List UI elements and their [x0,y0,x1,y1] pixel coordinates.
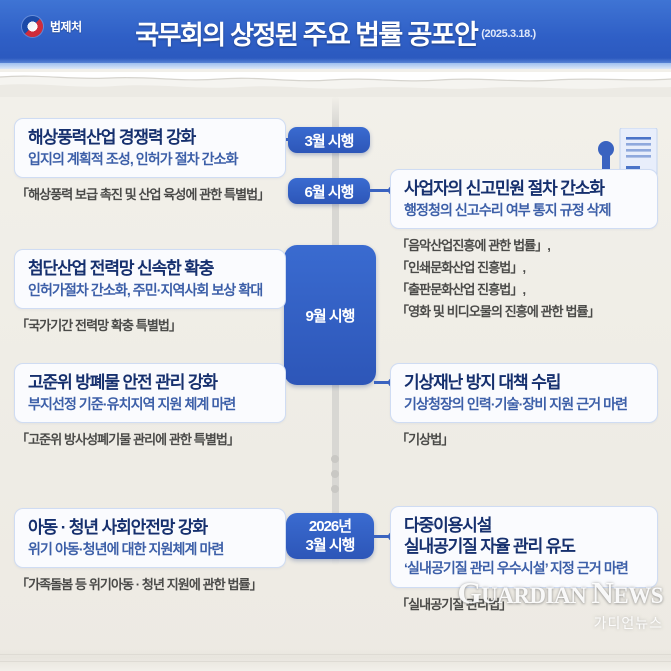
card-right-report-procedure[interactable]: 사업자의 신고민원 절차 간소화 행정청의 신고수리 여부 통지 규정 삭제 [390,169,658,229]
footer-rule [0,649,671,671]
torn-paper-edge [0,63,671,97]
card-title: 고준위 방폐물 안전 관리 강화 [28,372,273,393]
card-left-offshore-wind[interactable]: 해상풍력산업 경쟁력 강화 입지의 계획적 조성, 인허가 절차 간소화 [14,118,286,178]
card-subtitle: 위기 아동·청년에 대한 지원체계 마련 [28,540,273,559]
separator-dot [331,455,339,463]
card-law-report-procedure-3: 「출판문화산업 진흥법」, [396,281,525,298]
card-subtitle: ‘실내공기질 관리 우수시설’ 지정 근거 마련 [404,559,645,578]
page-title-date: (2025.3.18.) [481,28,536,40]
card-law-offshore-wind: 「해상풍력 보급 촉진 및 산업 육성에 관한 특별법」 [16,186,269,203]
card-right-weather-disaster[interactable]: 기상재난 방지 대책 수립 기상청장의 인력·기술·장비 지원 근거 마련 [390,363,658,423]
page-header: 법제처 국무회의 상정된 주요 법률 공포안(2025.3.18.) [0,0,671,68]
card-subtitle: 기상청장의 인력·기술·장비 지원 근거 마련 [404,395,645,414]
page-title-bold: 주요 법률 공포안 [303,20,477,50]
card-title-line1: 다중이용시설 [404,515,645,536]
card-title: 첨단산업 전력망 신속한 확충 [28,258,273,279]
card-title: 아동 · 청년 사회안전망 강화 [28,517,273,538]
infographic-canvas: 법제처 국무회의 상정된 주요 법률 공포안(2025.3.18.) [0,0,671,671]
card-subtitle: 인허가절차 간소화, 주민·지역사회 보상 확대 [28,281,273,300]
card-law-report-procedure-4: 「영화 및 비디오물의 진흥에 관한 법률」 [396,303,600,320]
card-law-report-procedure-1: 「음악산업진흥에 관한 법률」, [396,237,550,254]
timeline-badge-2026-march[interactable]: 2026년 3월 시행 [286,513,374,559]
card-left-youth-safety-net[interactable]: 아동 · 청년 사회안전망 강화 위기 아동·청년에 대한 지원체계 마련 [14,508,286,568]
card-law-youth-safety-net: 「가족돌봄 등 위기아동 · 청년 지원에 관한 법률」 [16,576,262,593]
card-left-nuclear-waste[interactable]: 고준위 방폐물 안전 관리 강화 부지선정 기준·유치지역 지원 체계 마련 [14,363,286,423]
separator-dot [331,470,339,478]
card-title: 사업자의 신고민원 절차 간소화 [404,178,645,199]
timeline-badge-march[interactable]: 3월 시행 [288,127,370,153]
card-title-line2: 실내공기질 자율 관리 유도 [404,536,645,557]
card-law-indoor-air-quality: 「실내공기질 관리법」 [396,596,511,613]
card-law-report-procedure-2: 「인쇄문화산업 진흥법」, [396,259,525,276]
card-subtitle: 부지선정 기준·유치지역 지원 체계 마련 [28,395,273,414]
timeline-dotted-separator [328,455,342,500]
card-left-power-grid[interactable]: 첨단산업 전력망 신속한 확충 인허가절차 간소화, 주민·지역사회 보상 확대 [14,249,286,309]
timeline-badge-september[interactable]: 9월 시행 [284,245,376,385]
card-law-nuclear-waste: 「고준위 방사성폐기물 관리에 관한 특별법」 [16,431,239,448]
card-law-weather-disaster: 「기상법」 [396,431,453,448]
card-title: 기상재난 방지 대책 수립 [404,372,645,393]
card-right-indoor-air-quality[interactable]: 다중이용시설 실내공기질 자율 관리 유도 ‘실내공기질 관리 우수시설’ 지정… [390,506,658,588]
separator-dot [331,485,339,493]
timeline-badge-june[interactable]: 6월 시행 [288,178,370,204]
badge-2026-year: 2026년 [309,517,351,536]
card-title: 해상풍력산업 경쟁력 강화 [28,127,273,148]
card-law-power-grid: 「국가기간 전력망 확충 특별법」 [16,317,181,334]
page-title: 국무회의 상정된 주요 법률 공포안(2025.3.18.) [0,13,671,52]
card-subtitle: 행정청의 신고수리 여부 통지 규정 삭제 [404,201,645,220]
badge-2026-month: 3월 시행 [306,536,355,555]
page-title-light: 국무회의 상정된 [135,20,303,50]
card-subtitle: 입지의 계획적 조성, 인허가 절차 간소화 [28,150,273,169]
watermark-subtitle: 가디언뉴스 [457,613,663,633]
